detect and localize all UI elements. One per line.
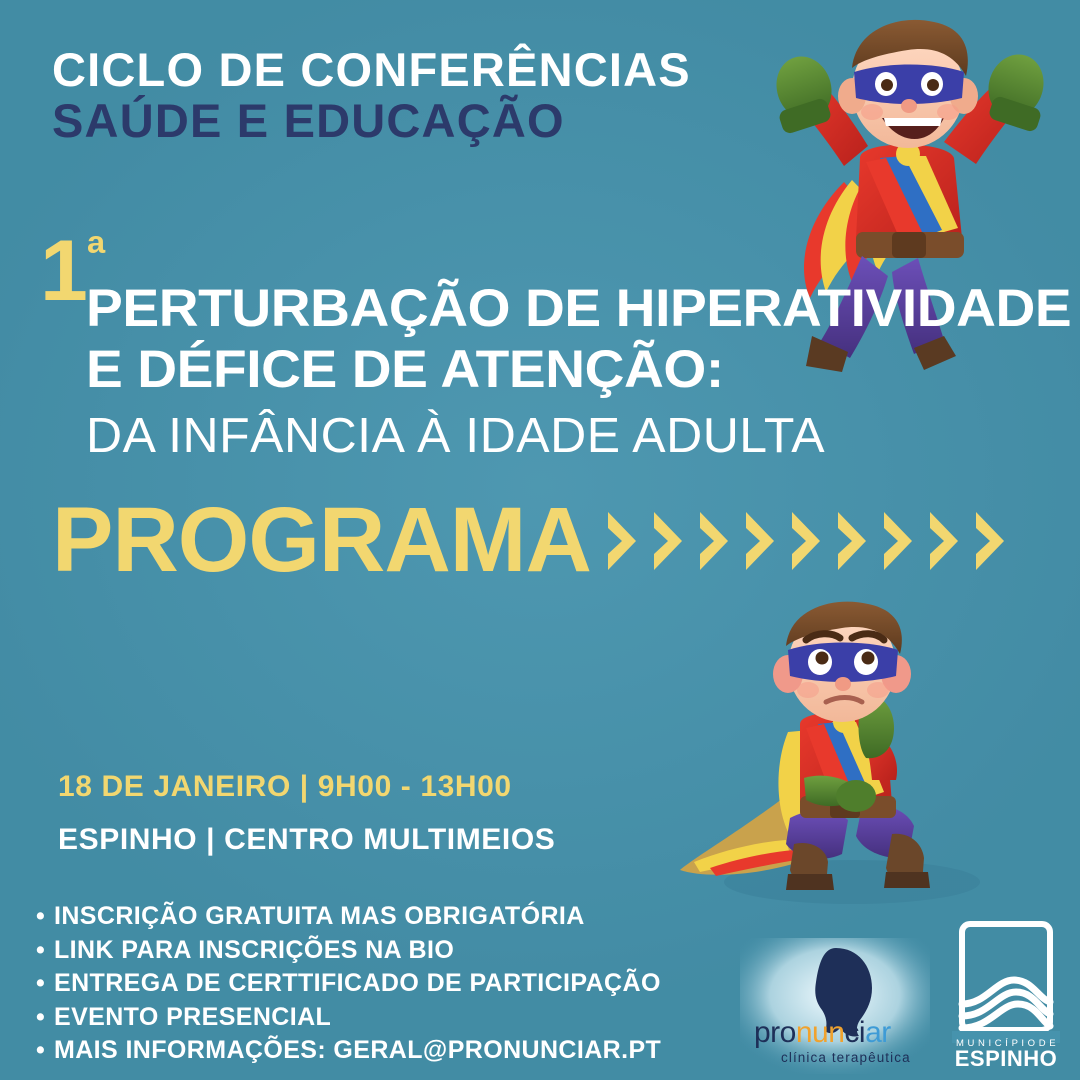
page-subtitle: DA INFÂNCIA À IDADE ADULTA bbox=[86, 408, 825, 464]
conference-poster: CICLO DE CONFERÊNCIAS SAÚDE E EDUCAÇÃO 1… bbox=[0, 0, 1080, 1080]
header-line-1: CICLO DE CONFERÊNCIAS bbox=[52, 46, 691, 94]
list-item: • ENTREGA DE CERTTIFICADO DE PARTICIPAÇÃ… bbox=[36, 967, 756, 1001]
chevron-right-icon bbox=[973, 510, 1007, 572]
chevron-right-icon bbox=[651, 510, 685, 572]
event-datetime: 18 DE JANEIRO | 9H00 - 13H00 bbox=[58, 770, 512, 804]
edition-suffix: ª bbox=[87, 225, 105, 281]
bullet-dot-icon: • bbox=[36, 1034, 54, 1068]
chevron-right-icon bbox=[743, 510, 777, 572]
espinho-logo-line-2: ESPINHO bbox=[955, 1046, 1058, 1070]
programa-banner: PROGRAMA bbox=[52, 494, 1019, 586]
pronunciar-part-1: pro bbox=[754, 1016, 796, 1049]
edition-number: 1 bbox=[40, 223, 87, 319]
pronunciar-part-2: nun bbox=[796, 1016, 845, 1049]
pronunciar-tagline: clínica terapêutica bbox=[781, 1050, 911, 1065]
chevron-right-icon bbox=[881, 510, 915, 572]
pronunciar-part-4: ar bbox=[865, 1016, 891, 1049]
chevron-arrow-group bbox=[605, 510, 1019, 572]
header-line-2: SAÚDE E EDUCAÇÃO bbox=[52, 96, 691, 145]
list-item-label: LINK PARA INSCRIÇÕES NA BIO bbox=[54, 934, 454, 968]
superhero-boy-sitting-thinking-icon bbox=[666, 596, 1018, 918]
page-title: PERTURBAÇÃO DE HIPERATIVIDADE E DÉFICE D… bbox=[86, 278, 1046, 401]
list-item: • INSCRIÇÃO GRATUITA MAS OBRIGATÓRIA bbox=[36, 900, 756, 934]
list-item-label: INSCRIÇÃO GRATUITA MAS OBRIGATÓRIA bbox=[54, 900, 585, 934]
svg-text:pronunciar: pronunciar bbox=[754, 1016, 891, 1049]
chevron-right-icon bbox=[927, 510, 961, 572]
list-item: • LINK PARA INSCRIÇÕES NA BIO bbox=[36, 934, 756, 968]
list-item-label: ENTREGA DE CERTTIFICADO DE PARTICIPAÇÃO bbox=[54, 967, 661, 1001]
bullet-dot-icon: • bbox=[36, 967, 54, 1001]
bullet-dot-icon: • bbox=[36, 934, 54, 968]
chevron-right-icon bbox=[835, 510, 869, 572]
list-item-label: EVENTO PRESENCIAL bbox=[54, 1001, 331, 1035]
programa-label: PROGRAMA bbox=[52, 494, 591, 586]
bullet-dot-icon: • bbox=[36, 900, 54, 934]
list-item-label: MAIS INFORMAÇÕES: GERAL@PRONUNCIAR.PT bbox=[54, 1034, 661, 1068]
chevron-right-icon bbox=[697, 510, 731, 572]
title-line-1: PERTURBAÇÃO DE HIPERATIVIDADE bbox=[86, 278, 1080, 339]
espinho-municipality-logo: M U N I C Í P I O D E ESPINHO bbox=[952, 918, 1060, 1070]
chevron-right-icon bbox=[789, 510, 823, 572]
bullet-dot-icon: • bbox=[36, 1001, 54, 1035]
event-info-list: • INSCRIÇÃO GRATUITA MAS OBRIGATÓRIA • L… bbox=[36, 900, 756, 1068]
pronunciar-logo: pronunciar clínica terapêutica bbox=[740, 938, 930, 1074]
poster-header: CICLO DE CONFERÊNCIAS SAÚDE E EDUCAÇÃO bbox=[52, 46, 691, 145]
event-venue: ESPINHO | CENTRO MULTIMEIOS bbox=[58, 823, 555, 857]
list-item: • EVENTO PRESENCIAL bbox=[36, 1001, 756, 1035]
title-line-2: E DÉFICE DE ATENÇÃO: bbox=[86, 339, 1080, 400]
list-item: • MAIS INFORMAÇÕES: GERAL@PRONUNCIAR.PT bbox=[36, 1034, 756, 1068]
chevron-right-icon bbox=[605, 510, 639, 572]
pronunciar-part-3: ci bbox=[844, 1016, 865, 1049]
